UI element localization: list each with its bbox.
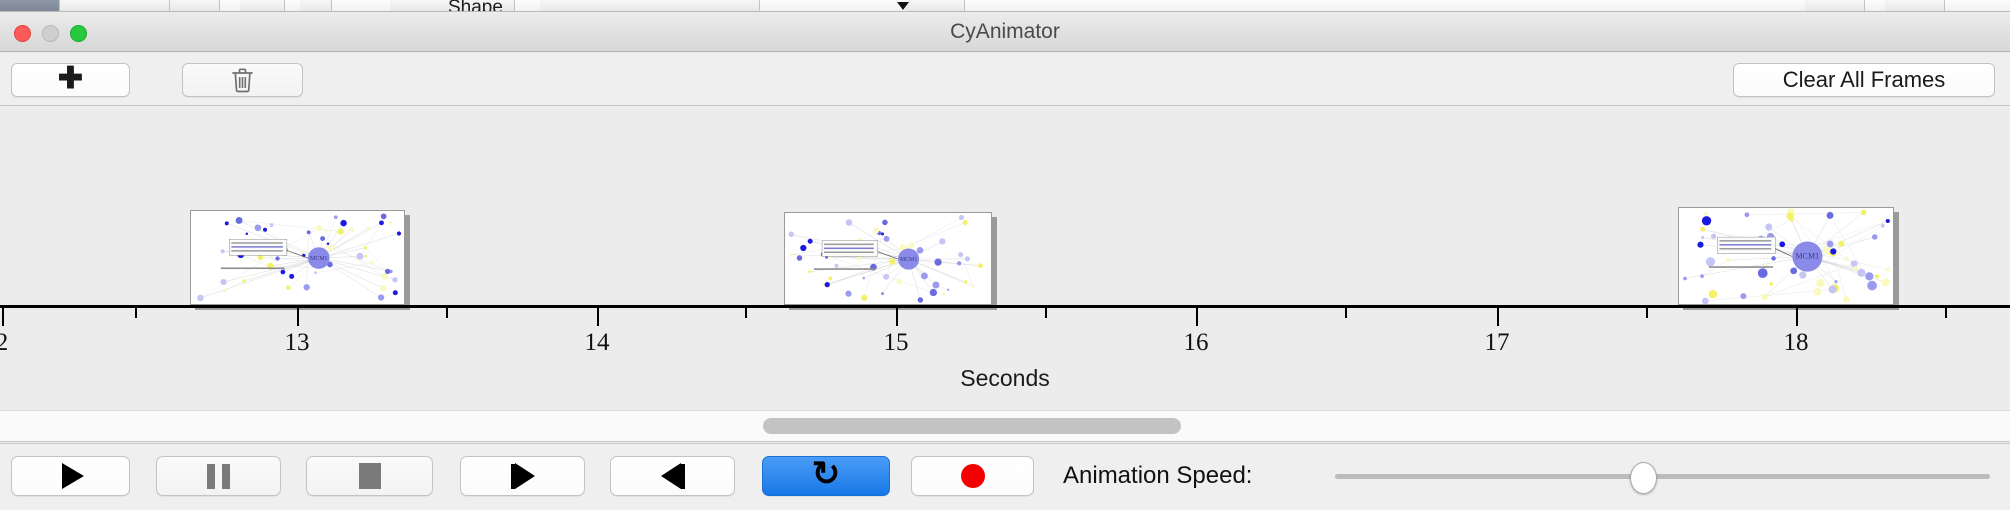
axis-tick-label: 13: [285, 329, 310, 357]
stop-button[interactable]: [306, 456, 433, 496]
bg-segment: [170, 0, 220, 12]
axis-tick-minor: [1345, 308, 1347, 318]
axis-tick-minor: [135, 308, 137, 318]
loop-icon: ↻: [812, 457, 841, 491]
bg-segment: [0, 0, 60, 12]
add-frame-button[interactable]: ✚: [11, 63, 130, 97]
title-bar: CyAnimator: [0, 12, 2010, 52]
axis-tick-major: [297, 308, 299, 326]
slider-track: [1335, 474, 1990, 479]
frame-thumbnail[interactable]: MCM1: [784, 212, 992, 305]
background-window-strip: Shape: [0, 0, 2010, 12]
timeline-scrollbar[interactable]: [0, 410, 2010, 442]
axis-tick-label: 16: [1184, 329, 1209, 357]
frame-thumbnail[interactable]: MCM1: [190, 210, 405, 305]
background-window-label: Shape: [448, 0, 503, 12]
bg-segment: [240, 0, 285, 12]
timeline-axis: [0, 305, 2010, 308]
clear-all-frames-label: Clear All Frames: [1783, 67, 1946, 93]
axis-tick-label: 15: [884, 329, 909, 357]
pause-icon: [207, 464, 230, 489]
skip-forward-icon: [661, 463, 685, 489]
network-graph: MCM1: [191, 211, 404, 305]
playback-bar: ↻ Animation Speed:: [0, 443, 2010, 510]
axis-tick-label: 14: [585, 329, 610, 357]
bg-segment: [300, 0, 332, 12]
bg-segment: [60, 0, 170, 12]
axis-tick-label: 18: [1784, 329, 1809, 357]
animation-speed-slider[interactable]: [1335, 456, 1990, 496]
frame-thumbnail[interactable]: MCM1: [1678, 207, 1894, 305]
delete-frame-button[interactable]: [182, 63, 303, 97]
frame-toolbar: ✚ Clear All Frames: [0, 53, 2010, 106]
svg-text:MCM1: MCM1: [310, 256, 328, 262]
bg-segment: [540, 0, 760, 12]
play-icon: [62, 463, 84, 489]
bg-segment: [905, 0, 965, 12]
window-title: CyAnimator: [0, 12, 2010, 52]
axis-tick-major: [896, 308, 898, 326]
svg-text:MCM1: MCM1: [900, 257, 918, 263]
axis-tick-minor: [1945, 308, 1947, 318]
axis-tick-minor: [1045, 308, 1047, 318]
axis-tick-major: [1196, 308, 1198, 326]
skip-back-icon: [511, 463, 535, 489]
axis-tick-minor: [1646, 308, 1648, 318]
network-graph: MCM1: [785, 213, 991, 305]
timeline-panel[interactable]: MCM1MCM1MCM1 2131415161718 Seconds: [0, 107, 2010, 410]
record-icon: [961, 464, 985, 488]
animation-speed-label: Animation Speed:: [1063, 456, 1252, 496]
skip-forward-button[interactable]: [610, 456, 735, 496]
record-button[interactable]: [911, 456, 1034, 496]
trash-icon: [231, 67, 254, 93]
plus-icon: ✚: [58, 64, 83, 94]
svg-text:MCM1: MCM1: [1796, 252, 1820, 261]
bg-segment: [1885, 0, 1945, 12]
stop-icon: [359, 463, 381, 489]
axis-tick-minor: [446, 308, 448, 318]
frame-image: MCM1: [784, 212, 992, 305]
clear-all-frames-button[interactable]: Clear All Frames: [1733, 63, 1995, 97]
scrollbar-thumb[interactable]: [763, 418, 1181, 434]
background-toolbar: Shape: [0, 0, 2010, 12]
chevron-down-icon: [897, 2, 909, 10]
cyanimator-window: Shape CyAnimator ✚ Clear All Frames MCM1…: [0, 0, 2010, 510]
axis-tick-major: [1497, 308, 1499, 326]
skip-back-button[interactable]: [460, 456, 585, 496]
axis-tick-label: 2: [0, 329, 8, 357]
axis-tick-major: [1796, 308, 1798, 326]
axis-tick-minor: [745, 308, 747, 318]
network-graph: MCM1: [1679, 208, 1893, 305]
frame-thumbnails: MCM1MCM1MCM1: [0, 107, 2010, 305]
loop-button[interactable]: ↻: [762, 456, 890, 496]
axis-title: Seconds: [0, 365, 2010, 392]
play-button[interactable]: [11, 456, 130, 496]
axis-tick-major: [597, 308, 599, 326]
slider-thumb[interactable]: [1630, 462, 1657, 494]
axis-tick-label: 17: [1485, 329, 1510, 357]
axis-tick-major: [2, 308, 4, 326]
pause-button[interactable]: [156, 456, 281, 496]
frame-image: MCM1: [1678, 207, 1894, 305]
frame-image: MCM1: [190, 210, 405, 305]
bg-segment: [1805, 0, 1865, 12]
